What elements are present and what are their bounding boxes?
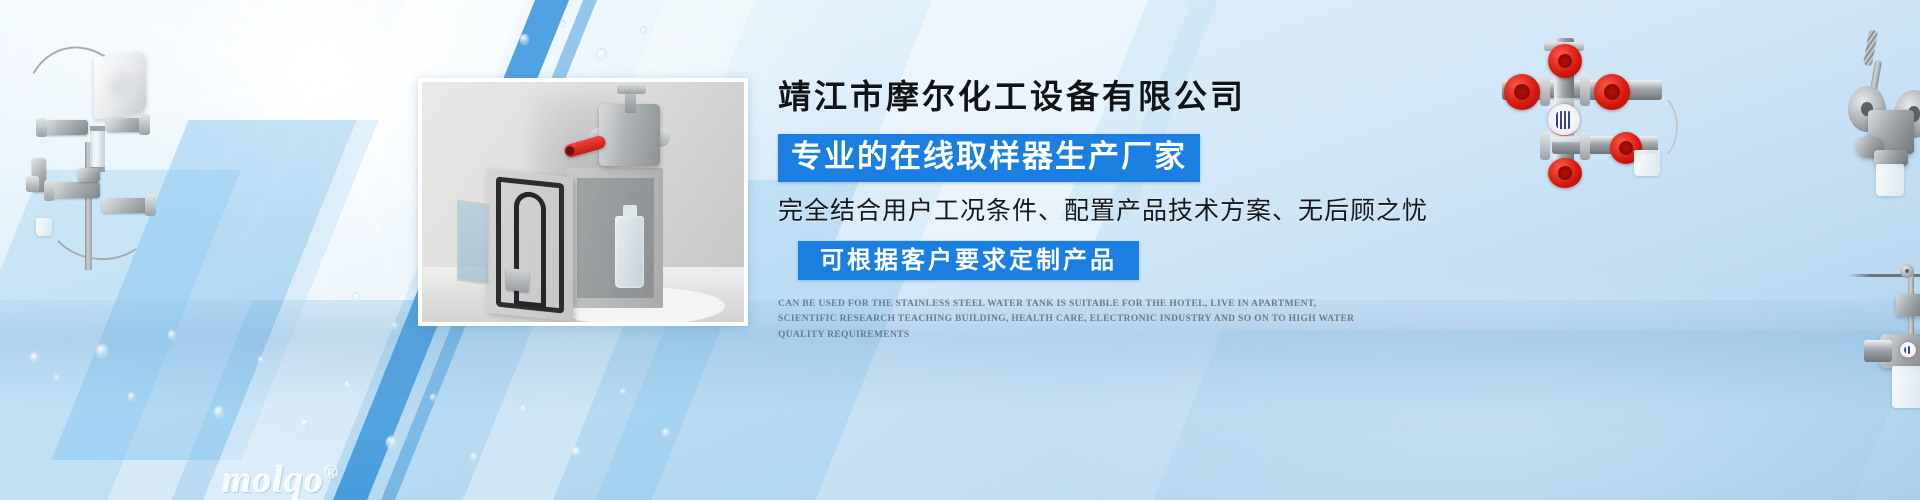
diagonal-stripe: [0, 170, 241, 500]
water-droplet-icon: [560, 20, 566, 28]
english-description: CAN BE USED FOR THE STAINLESS STEEL WATE…: [778, 297, 1358, 343]
water-droplet-icon: [214, 406, 224, 418]
company-emblem-icon: [1900, 342, 1916, 358]
handwheel-icon: [1504, 74, 1540, 110]
water-droplet-icon: [662, 428, 670, 437]
equipment-top-right-image: [1852, 24, 1920, 214]
water-droplet-icon: [640, 26, 647, 34]
subheadline: 完全结合用户工况条件、配置产品技术方案、无后顾之忧: [778, 196, 1398, 226]
water-droplet-icon: [344, 380, 351, 388]
custom-product-badge: 可根据客户要求定制产品: [798, 241, 1139, 280]
water-droplet-icon: [54, 374, 60, 381]
water-droplet-icon: [128, 392, 135, 401]
water-droplet-icon: [352, 292, 360, 302]
handwheel-icon: [1594, 74, 1630, 110]
water-droplet-icon: [520, 404, 527, 413]
company-name: 靖江市摩尔化工设备有限公司: [778, 78, 1398, 119]
water-droplet-icon: [596, 48, 607, 61]
handwheel-icon: [1548, 44, 1582, 78]
water-droplet-icon: [520, 34, 529, 45]
handwheel-icon: [1548, 158, 1582, 188]
custom-badge-row: 可根据客户要求定制产品: [798, 241, 1398, 280]
watermark-logo: molqo®: [222, 458, 339, 500]
water-droplet-icon: [30, 352, 39, 363]
water-droplet-icon: [470, 452, 478, 462]
handwheel-icon: [1610, 132, 1642, 164]
water-droplet-icon: [620, 388, 626, 395]
diagonal-stripe: [51, 120, 378, 460]
promo-banner: 靖江市摩尔化工设备有限公司 专业的在线取样器生产厂家 完全结合用户工况条件、配置…: [0, 0, 1920, 500]
company-emblem-icon: [1548, 104, 1580, 136]
equipment-left-image: [8, 22, 168, 272]
headline-badge: 专业的在线取样器生产厂家: [778, 134, 1200, 182]
water-droplet-icon: [258, 356, 264, 363]
banner-text-block: 靖江市摩尔化工设备有限公司 专业的在线取样器生产厂家 完全结合用户工况条件、配置…: [778, 78, 1398, 343]
registered-mark: ®: [324, 462, 339, 483]
water-droplet-icon: [300, 418, 309, 429]
headline-row: 专业的在线取样器生产厂家: [778, 134, 1398, 182]
water-droplet-icon: [386, 436, 397, 449]
equipment-cross-valve-image: [1482, 30, 1708, 190]
diagonal-stripe: [1138, 330, 1920, 500]
water-droplet-icon: [392, 322, 398, 329]
water-droplet-icon: [96, 344, 108, 358]
water-droplet-icon: [572, 446, 581, 457]
water-droplet-icon: [430, 394, 436, 401]
equipment-bottom-right-image: [1880, 248, 1920, 438]
water-droplet-icon: [168, 330, 176, 340]
product-photo: [418, 78, 748, 326]
watermark-text: molqo: [222, 459, 324, 500]
